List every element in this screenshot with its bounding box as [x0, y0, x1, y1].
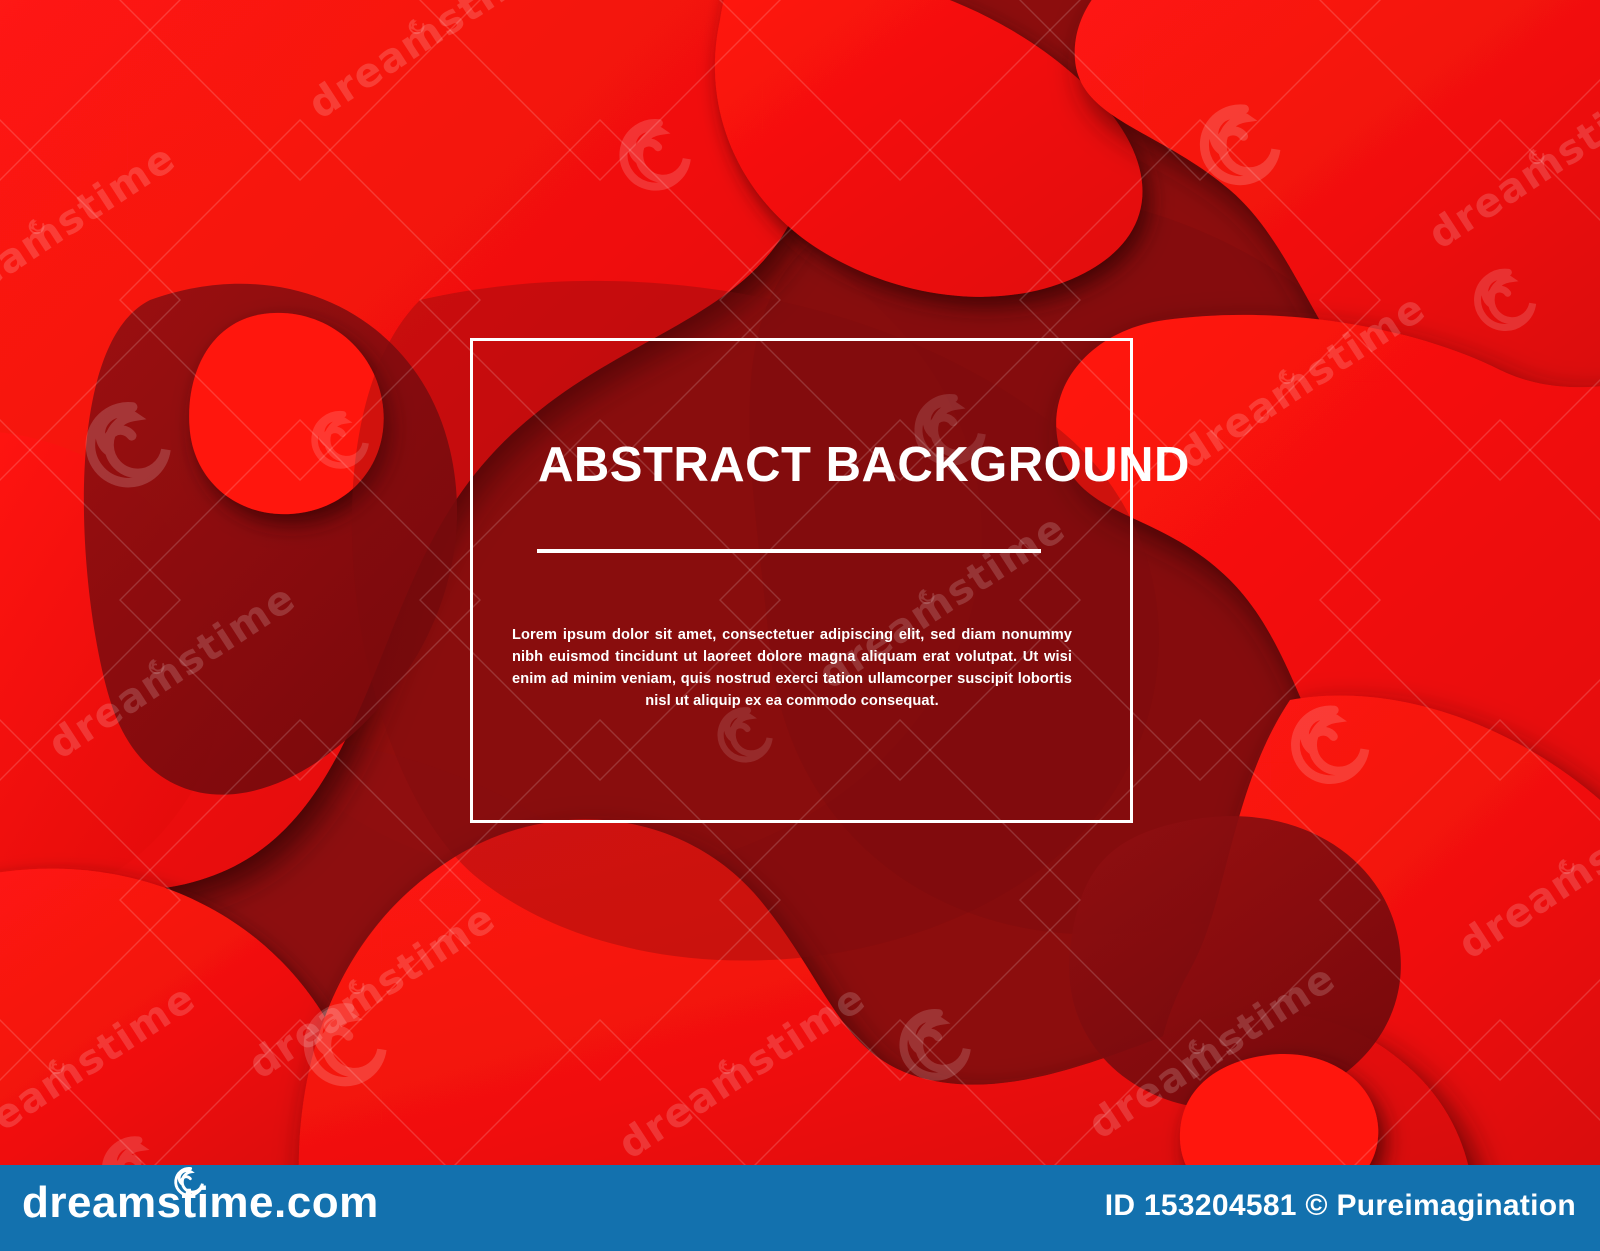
- text-frame-border: [470, 338, 1133, 823]
- page-title: ABSTRACT BACKGROUND: [538, 440, 1098, 491]
- body-paragraph: Lorem ipsum dolor sit amet, consectetuer…: [512, 625, 1072, 713]
- dreamstime-footer-bar: dreamstime.com ID 153204581 © Pureimagin…: [0, 1165, 1600, 1251]
- image-credit: ID 153204581 © Pureimagination: [1105, 1189, 1576, 1223]
- stock-photo-preview: ABSTRACT BACKGROUND Lorem ipsum dolor si…: [0, 0, 1600, 1251]
- dreamstime-spiral-icon: [172, 1165, 206, 1199]
- dreamstime-logo[interactable]: dreamstime.com: [22, 1181, 379, 1225]
- title-divider-rule: [537, 549, 1041, 553]
